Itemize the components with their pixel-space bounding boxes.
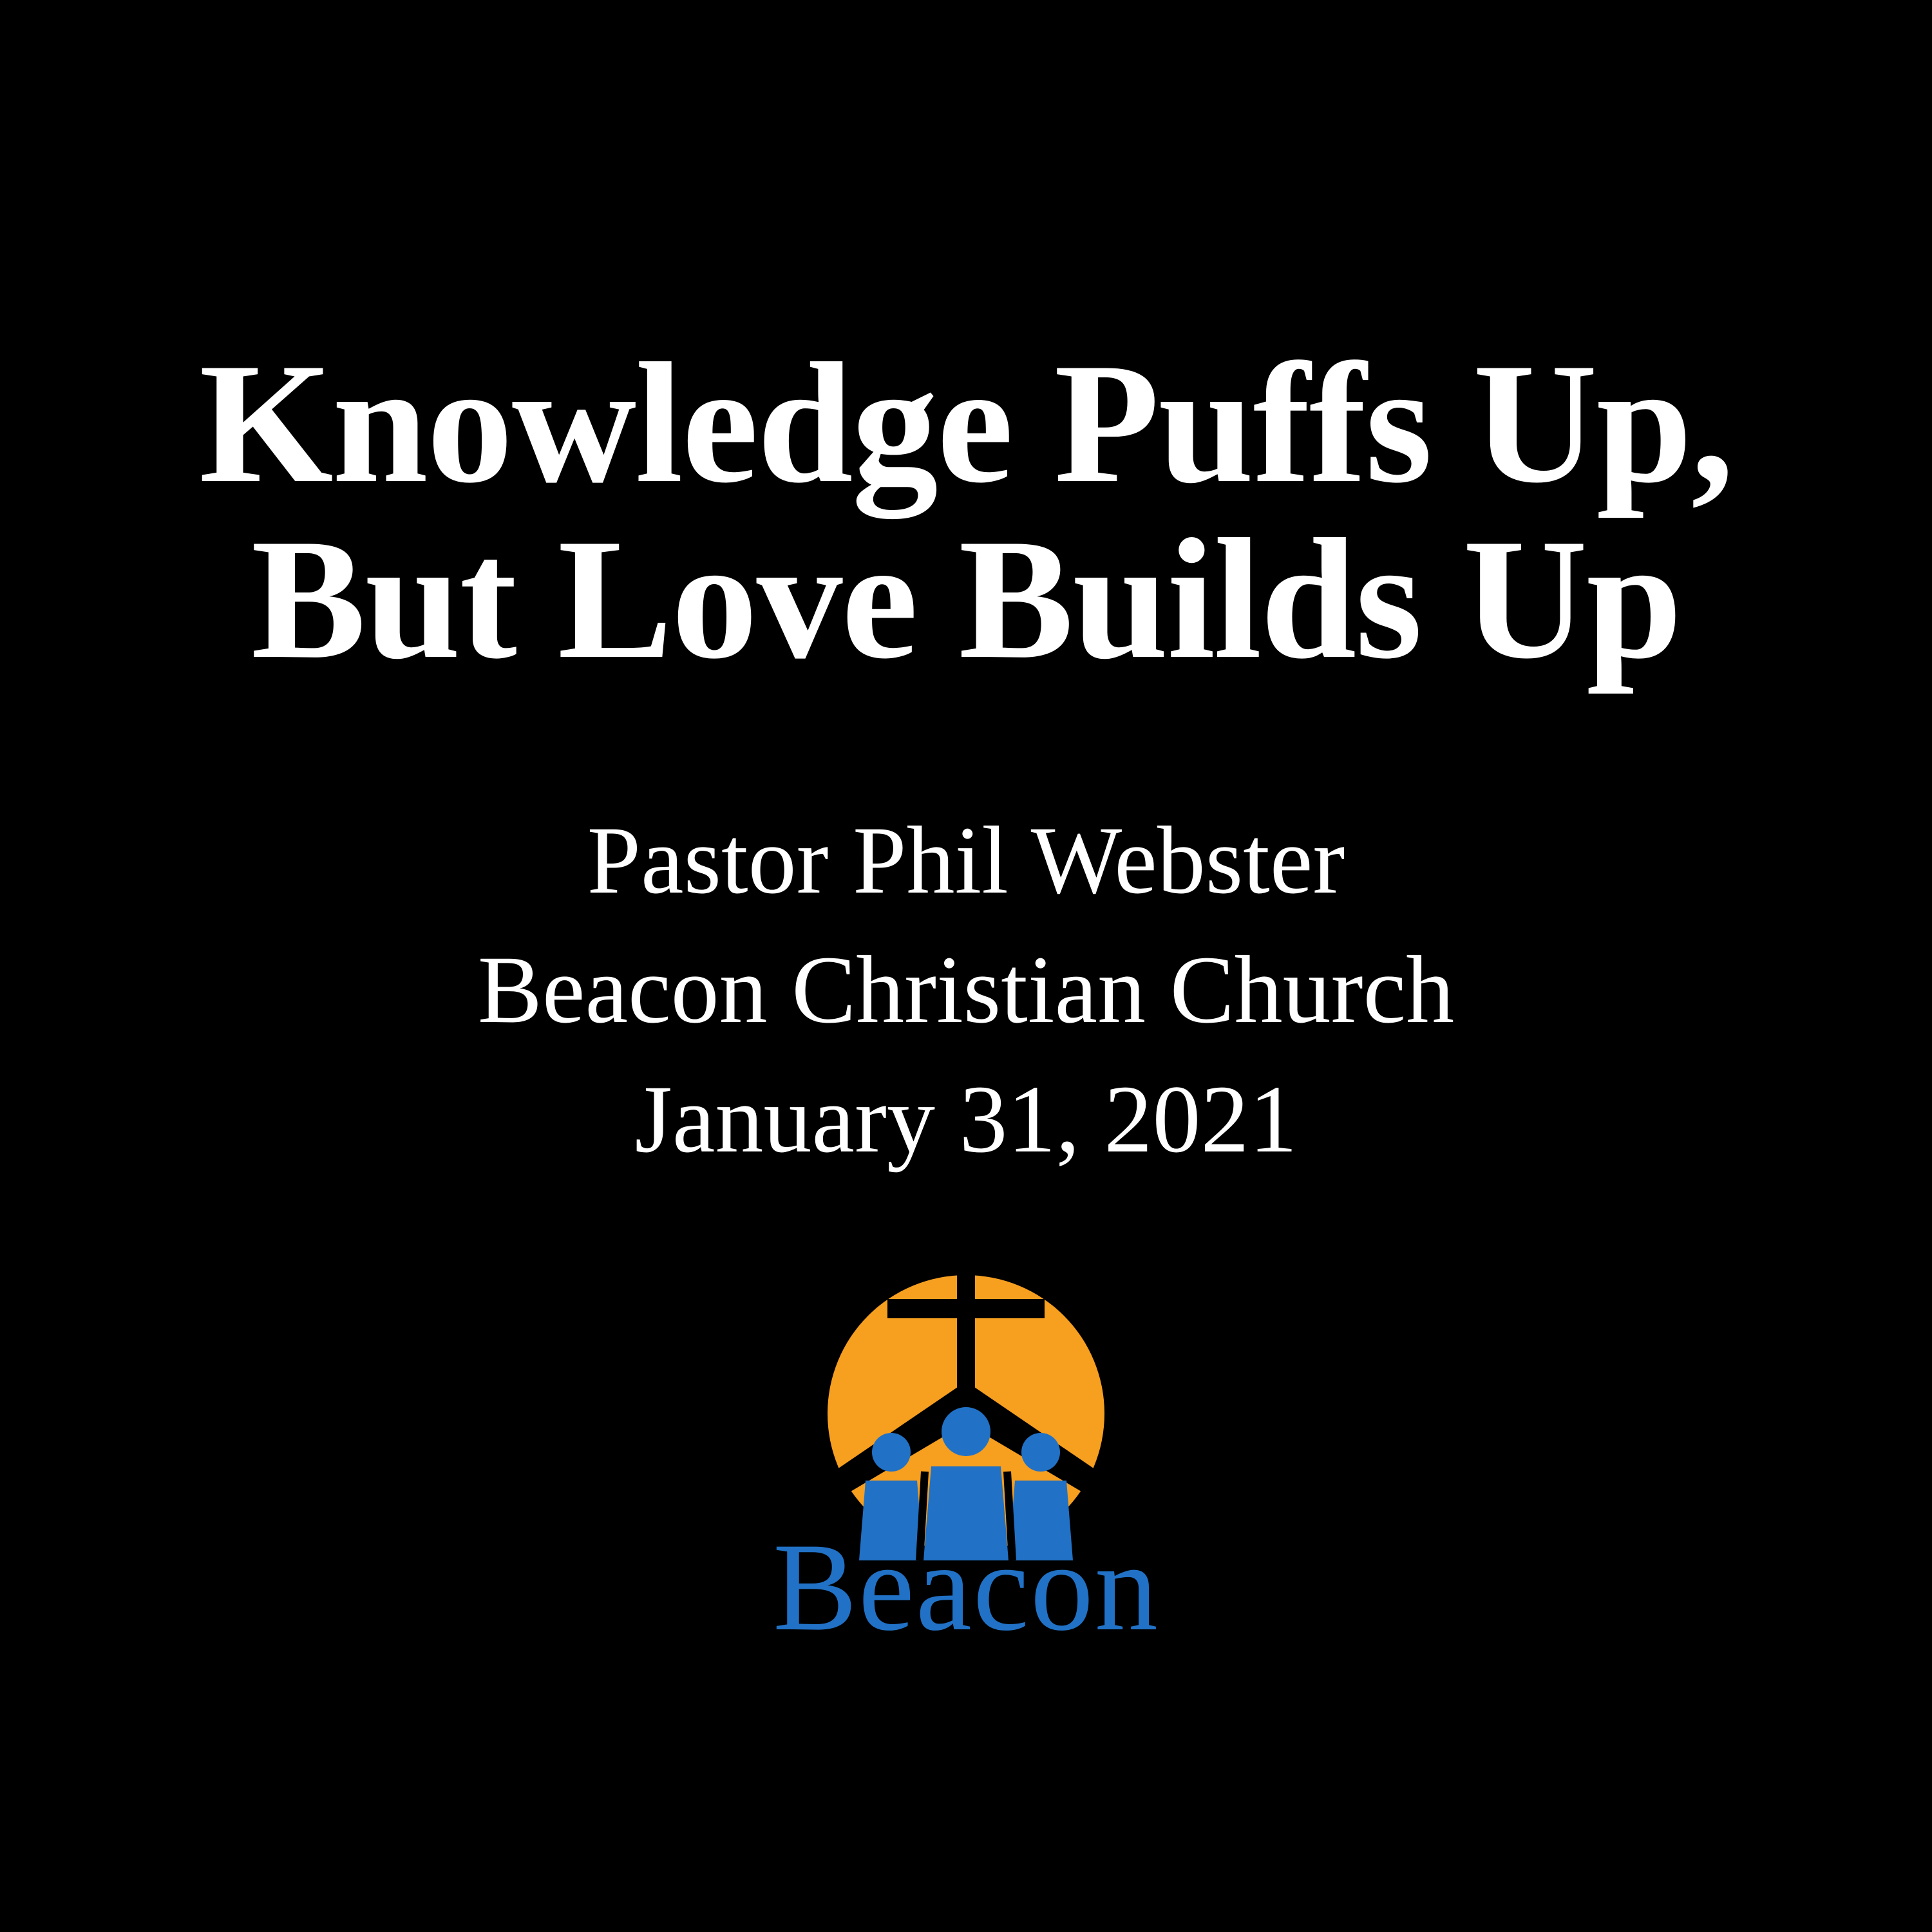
sermon-date: January 31, 2021 [0,1055,1932,1184]
organization-name: Beacon Christian Church [0,925,1932,1055]
logo-wordmark: Beacon [702,1524,1230,1651]
speaker-name: Pastor Phil Webster [0,796,1932,925]
page-title: Knowledge Puffs Up, But Love Builds Up [0,335,1932,687]
title-line-2: But Love Builds Up [0,511,1932,687]
sermon-title-slide: Knowledge Puffs Up, But Love Builds Up P… [0,0,1932,1932]
beacon-logo-mark-icon [702,1259,1230,1562]
title-line-1: Knowledge Puffs Up, [0,335,1932,511]
subtitle-group: Pastor Phil Webster Beacon Christian Chu… [0,796,1932,1184]
beacon-church-logo: Beacon [702,1259,1230,1697]
